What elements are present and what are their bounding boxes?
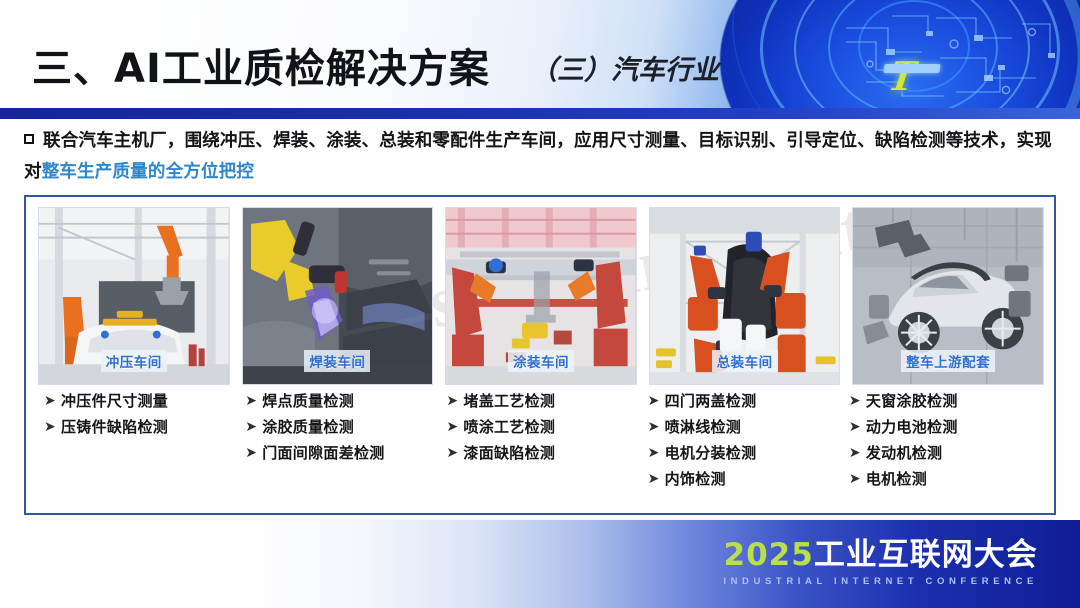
list-item: ➤焊点质量检测 [245, 393, 440, 410]
list-item: ➤堵盖工艺检测 [446, 393, 641, 410]
chevron-right-icon: ➤ [446, 393, 463, 410]
list-item: ➤喷涂工艺检测 [446, 419, 641, 436]
list-item-label: 天窗涂胶检测 [866, 393, 958, 410]
slide-footer: 2025工业互联网大会 INDUSTRIAL INTERNET CONFEREN… [0, 520, 1080, 608]
chevron-right-icon: ➤ [446, 419, 463, 436]
chevron-right-icon: ➤ [44, 419, 61, 436]
list-item-label: 喷涂工艺检测 [463, 419, 555, 436]
chevron-right-icon: ➤ [245, 393, 262, 410]
photo-strip: 冲压车间 焊装车间 [38, 207, 1044, 385]
chevron-right-icon: ➤ [849, 393, 866, 410]
chevron-right-icon: ➤ [849, 445, 866, 462]
photo-caption: 焊装车间 [304, 350, 370, 372]
page-title: 三、AI工业质检解决方案 [32, 36, 490, 94]
list-item-label: 喷淋线检测 [665, 419, 742, 436]
list-item-label: 漆面缺陷检测 [463, 445, 555, 462]
list-item-label: 冲压件尺寸测量 [61, 393, 168, 410]
brand-title: 2025工业互联网大会 [723, 540, 1038, 571]
list-item: ➤电机分装检测 [648, 445, 843, 462]
chevron-right-icon: ➤ [44, 393, 61, 410]
lead-paragraph: 联合汽车主机厂，围绕冲压、焊装、涂装、总装和零配件生产车间，应用尺寸测量、目标识… [24, 126, 1058, 188]
header-circuit-icon [836, 8, 1066, 104]
list-item-label: 焊点质量检测 [262, 393, 354, 410]
photo-caption: 总装车间 [712, 350, 778, 372]
photo-painting-workshop[interactable]: 涂装车间 [445, 207, 637, 385]
list-item-label: 电机分装检测 [665, 445, 757, 462]
page-subtitle: （三）汽车行业 [530, 48, 719, 87]
list-item: ➤内饰检测 [648, 471, 843, 488]
list-item-label: 内饰检测 [665, 471, 726, 488]
content-frame: Industrial Internet 冲压车间 [24, 195, 1056, 515]
chevron-right-icon: ➤ [648, 471, 665, 488]
list-item: ➤动力电池检测 [849, 419, 1044, 436]
list-item-label: 动力电池检测 [866, 419, 958, 436]
list-item: ➤发动机检测 [849, 445, 1044, 462]
list-item: ➤冲压件尺寸测量 [44, 393, 239, 410]
brand-name-cn: 工业互联网大会 [814, 537, 1038, 573]
list-item-label: 堵盖工艺检测 [463, 393, 555, 410]
header-divider-rule [0, 108, 1080, 119]
lead-highlight-text: 整车生产质量的全方位把控 [42, 162, 254, 182]
slide-header: T 三、AI工业质检解决方案 （三）汽车行业 [0, 0, 1080, 108]
list-item-label: 门面间隙面差检测 [262, 445, 384, 462]
list-item-label: 压铸件缺陷检测 [61, 419, 168, 436]
bullet-square-icon [24, 134, 34, 144]
list-item: ➤天窗涂胶检测 [849, 393, 1044, 410]
photo-caption: 整车上游配套 [901, 350, 995, 372]
photo-final-assembly-workshop[interactable]: 总装车间 [649, 207, 841, 385]
photo-welding-workshop[interactable]: 焊装车间 [242, 207, 434, 385]
chevron-right-icon: ➤ [648, 393, 665, 410]
conference-brand: 2025工业互联网大会 INDUSTRIAL INTERNET CONFEREN… [723, 540, 1038, 587]
chevron-right-icon: ➤ [849, 471, 866, 488]
chevron-right-icon: ➤ [648, 419, 665, 436]
chevron-right-icon: ➤ [849, 419, 866, 436]
list-item: ➤四门两盖检测 [648, 393, 843, 410]
photo-caption: 冲压车间 [101, 350, 167, 372]
list-item: ➤压铸件缺陷检测 [44, 419, 239, 436]
brand-year: 2025 [724, 537, 814, 573]
list-item: ➤喷淋线检测 [648, 419, 843, 436]
list-item: ➤门面间隙面差检测 [245, 445, 440, 462]
list-item-label: 四门两盖检测 [665, 393, 757, 410]
feature-column-welding: ➤焊点质量检测 ➤涂胶质量检测 ➤门面间隙面差检测 [239, 393, 440, 505]
list-item-label: 涂胶质量检测 [262, 419, 354, 436]
feature-column-painting: ➤堵盖工艺检测 ➤喷涂工艺检测 ➤漆面缺陷检测 [440, 393, 641, 505]
list-item-label: 电机检测 [866, 471, 927, 488]
feature-column-stamping: ➤冲压件尺寸测量 ➤压铸件缺陷检测 [38, 393, 239, 505]
photo-vehicle-upstream-parts[interactable]: 整车上游配套 [852, 207, 1044, 385]
feature-column-upstream: ➤天窗涂胶检测 ➤动力电池检测 ➤发动机检测 ➤电机检测 [843, 393, 1044, 505]
chevron-right-icon: ➤ [245, 419, 262, 436]
chevron-right-icon: ➤ [648, 445, 665, 462]
chevron-right-icon: ➤ [245, 445, 262, 462]
brand-name-en: INDUSTRIAL INTERNET CONFERENCE [723, 577, 1038, 587]
feature-columns: ➤冲压件尺寸测量 ➤压铸件缺陷检测 ➤焊点质量检测 ➤涂胶质量检测 ➤门面间隙面… [38, 393, 1044, 505]
list-item: ➤涂胶质量检测 [245, 419, 440, 436]
list-item: ➤电机检测 [849, 471, 1044, 488]
chevron-right-icon: ➤ [446, 445, 463, 462]
list-item-label: 发动机检测 [866, 445, 943, 462]
photo-caption: 涂装车间 [508, 350, 574, 372]
list-item: ➤漆面缺陷检测 [446, 445, 641, 462]
photo-stamping-workshop[interactable]: 冲压车间 [38, 207, 230, 385]
feature-column-assembly: ➤四门两盖检测 ➤喷淋线检测 ➤电机分装检测 ➤内饰检测 [642, 393, 843, 505]
